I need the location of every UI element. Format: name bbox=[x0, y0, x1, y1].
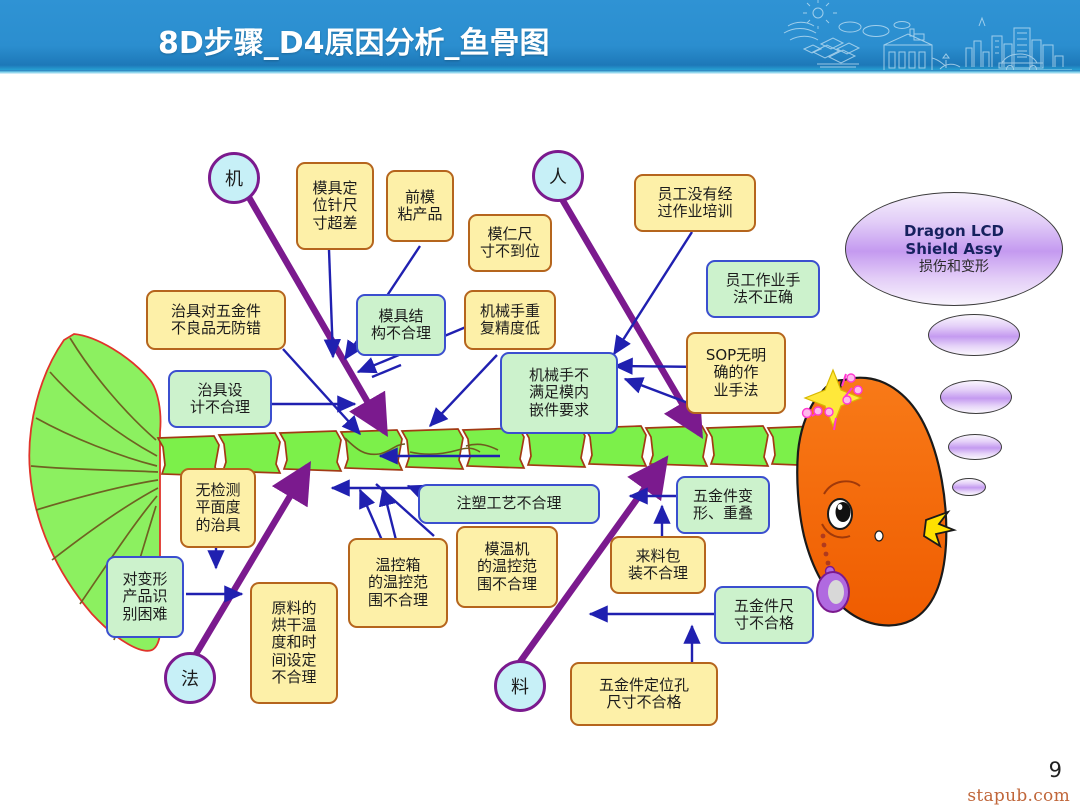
cause-box-f1[interactable]: 无检测 平面度 的治具 bbox=[180, 468, 256, 548]
fish-spine-icon bbox=[158, 426, 823, 476]
effect-line-3: 损伤和变形 bbox=[919, 259, 989, 277]
link-f4 bbox=[383, 488, 397, 544]
category-machine[interactable]: 机 bbox=[208, 152, 260, 204]
slide-page: 8D步骤_D4原因分析_鱼骨图 bbox=[0, 0, 1080, 810]
category-material[interactable]: 料 bbox=[494, 660, 546, 712]
category-method-label: 法 bbox=[181, 665, 199, 691]
cause-box-f2[interactable]: 对变形 产品识 别困难 bbox=[106, 556, 184, 638]
cause-box-f3[interactable]: 原料的 烘干温 度和时 间设定 不合理 bbox=[250, 582, 338, 704]
cause-box-p1[interactable]: 员工没有经 过作业培训 bbox=[634, 174, 756, 232]
cause-box-p3[interactable]: SOP无明 确的作 业手法 bbox=[686, 332, 786, 414]
category-machine-label: 机 bbox=[225, 165, 243, 191]
link-p1 bbox=[614, 232, 692, 354]
cause-box-t4[interactable]: 五金件定位孔 尺寸不合格 bbox=[570, 662, 718, 726]
page-title: 8D步骤_D4原因分析_鱼骨图 bbox=[158, 18, 550, 62]
effect-line-1: Dragon LCD bbox=[904, 222, 1004, 240]
cause-box-m5[interactable]: 模具结 构不合理 bbox=[356, 294, 446, 356]
category-man-label: 人 bbox=[549, 163, 567, 189]
cause-box-m8[interactable]: 治具设 计不合理 bbox=[168, 370, 272, 428]
cause-box-m6[interactable]: 机械手不 满足模内 嵌件要求 bbox=[500, 352, 618, 434]
link-m1 bbox=[329, 250, 333, 357]
link-m4 bbox=[430, 355, 497, 426]
watermark: stapub.com bbox=[967, 786, 1070, 806]
cause-box-f5[interactable]: 模温机 的温控范 围不合理 bbox=[456, 526, 558, 608]
link-m5-up bbox=[368, 365, 401, 374]
fish-head-icon bbox=[797, 370, 954, 625]
category-man[interactable]: 人 bbox=[532, 150, 584, 202]
category-material-label: 料 bbox=[511, 673, 529, 699]
slide-header: 8D步骤_D4原因分析_鱼骨图 bbox=[0, 0, 1080, 74]
city-skyline-lineart-icon bbox=[780, 0, 1080, 74]
cause-box-m2[interactable]: 前模 粘产品 bbox=[386, 170, 454, 242]
link-f3b bbox=[396, 484, 420, 502]
effect-line-2: Shield Assy bbox=[905, 240, 1002, 258]
bubble-trail-3 bbox=[948, 434, 1002, 460]
bubble-trail-4 bbox=[952, 478, 986, 496]
cause-box-f6[interactable]: 注塑工艺不合理 bbox=[418, 484, 600, 524]
fishbone-canvas: Dragon LCD Shield Assy 损伤和变形 机 人 法 料 模具定… bbox=[0, 74, 1080, 810]
cause-box-t2[interactable]: 来料包 装不合理 bbox=[610, 536, 706, 594]
cause-box-m4[interactable]: 机械手重 复精度低 bbox=[464, 290, 556, 350]
page-number: 9 bbox=[1049, 758, 1062, 782]
cause-box-t3[interactable]: 五金件尺 寸不合格 bbox=[714, 586, 814, 644]
bubble-trail-1 bbox=[928, 314, 1020, 356]
cause-box-m1[interactable]: 模具定 位针尺 寸超差 bbox=[296, 162, 374, 250]
link-m7 bbox=[283, 349, 360, 434]
cause-box-t1[interactable]: 五金件变 形、重叠 bbox=[676, 476, 770, 534]
cause-box-p2[interactable]: 员工作业手 法不正确 bbox=[706, 260, 820, 318]
category-method[interactable]: 法 bbox=[164, 652, 216, 704]
effect-bubble: Dragon LCD Shield Assy 损伤和变形 bbox=[845, 192, 1063, 306]
bubble-trail-2 bbox=[940, 380, 1012, 414]
cause-box-m7[interactable]: 治具对五金件 不良品无防错 bbox=[146, 290, 286, 350]
cause-box-m3[interactable]: 模仁尺 寸不到位 bbox=[468, 214, 552, 272]
cause-box-f4[interactable]: 温控箱 的温控范 围不合理 bbox=[348, 538, 448, 628]
